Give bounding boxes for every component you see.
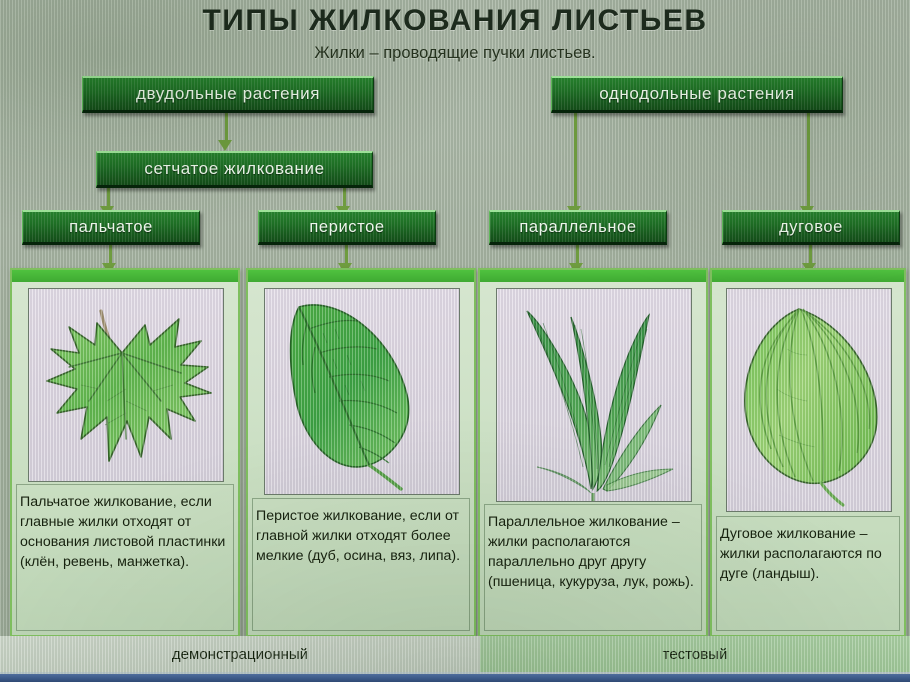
card-top-accent <box>12 270 238 282</box>
card-arcuate[interactable]: Дуговое жилкование – жилки располагаются… <box>710 268 906 637</box>
card-description-palmate: Пальчатое жилкование, если главные жилки… <box>20 492 230 573</box>
leaf-image-frame-parallel <box>496 288 692 502</box>
page-title: ТИПЫ ЖИЛКОВАНИЯ ЛИСТЬЕВ <box>0 4 910 38</box>
card-top-accent <box>480 270 706 282</box>
lily-leaf-arcuate-icon <box>727 289 891 511</box>
screen-bezel <box>0 674 910 682</box>
page-subtitle: Жилки – проводящие пучки листьев. <box>0 44 910 63</box>
box-netted-venation[interactable]: сетчатое жилкование <box>96 151 373 188</box>
arrow-dicot-to-netted <box>218 140 232 151</box>
connector-monocot-to-arcuate <box>807 111 810 209</box>
connector-dicot-to-netted <box>225 111 228 142</box>
footer-test-label: тестовый <box>663 646 728 663</box>
card-parallel[interactable]: Параллельное жилкование – жилки располаг… <box>478 268 708 637</box>
leaf-image-frame-arcuate <box>726 288 892 512</box>
connector-monocot-to-parallel <box>574 111 577 209</box>
footer-demo-label: демонстрационный <box>172 646 308 663</box>
footer-tab-demonstration[interactable]: демонстрационный <box>0 636 480 672</box>
card-description-pinnate: Перистое жилкование, если от главной жил… <box>256 506 466 566</box>
card-description-parallel: Параллельное жилкование – жилки располаг… <box>488 512 698 593</box>
card-pinnate[interactable]: Перистое жилкование, если от главной жил… <box>246 268 476 637</box>
box-type-pinnate[interactable]: перистое <box>258 210 436 245</box>
box-type-parallel[interactable]: параллельное <box>489 210 667 245</box>
footer-tab-test[interactable]: тестовый <box>480 636 910 672</box>
card-top-accent <box>248 270 474 282</box>
elm-leaf-pinnate-icon <box>265 289 459 494</box>
card-top-accent <box>712 270 904 282</box>
box-monocot-plants[interactable]: однодольные растения <box>551 76 843 113</box>
card-palmate[interactable]: Пальчатое жилкование, если главные жилки… <box>10 268 240 637</box>
maple-leaf-palmate-icon <box>29 289 223 481</box>
box-type-palmate[interactable]: пальчатое <box>22 210 200 245</box>
grass-leaves-parallel-icon <box>497 289 691 501</box>
slide-canvas: ТИПЫ ЖИЛКОВАНИЯ ЛИСТЬЕВ Жилки – проводящ… <box>0 0 910 682</box>
leaf-image-frame-pinnate <box>264 288 460 495</box>
card-description-arcuate: Дуговое жилкование – жилки располагаются… <box>720 524 896 584</box>
box-dicot-plants[interactable]: двудольные растения <box>82 76 374 113</box>
box-type-arcuate[interactable]: дуговое <box>722 210 900 245</box>
leaf-image-frame-palmate <box>28 288 224 482</box>
